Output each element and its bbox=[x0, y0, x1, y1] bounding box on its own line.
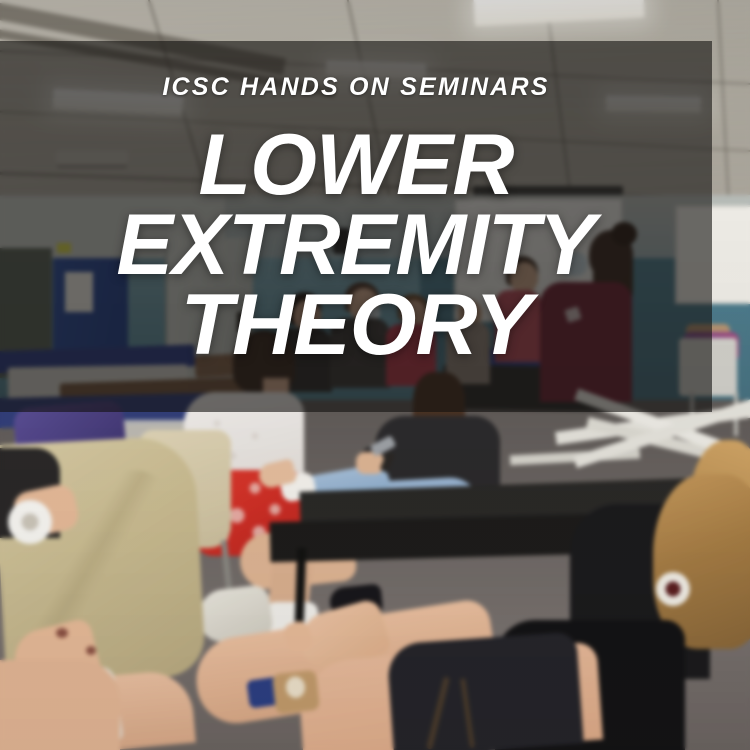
eyebrow-text: ICSC HANDS ON SEMINARS bbox=[162, 75, 549, 100]
title-line-2: EXTREMITY bbox=[117, 206, 595, 286]
title-line-3: THEORY bbox=[114, 286, 597, 366]
page-title: LOWER EXTREMITY THEORY bbox=[114, 126, 597, 366]
poster: ICSC HANDS ON SEMINARS LOWER EXTREMITY T… bbox=[0, 0, 750, 750]
title-block: ICSC HANDS ON SEMINARS LOWER EXTREMITY T… bbox=[0, 41, 712, 412]
title-line-1: LOWER bbox=[114, 126, 597, 206]
